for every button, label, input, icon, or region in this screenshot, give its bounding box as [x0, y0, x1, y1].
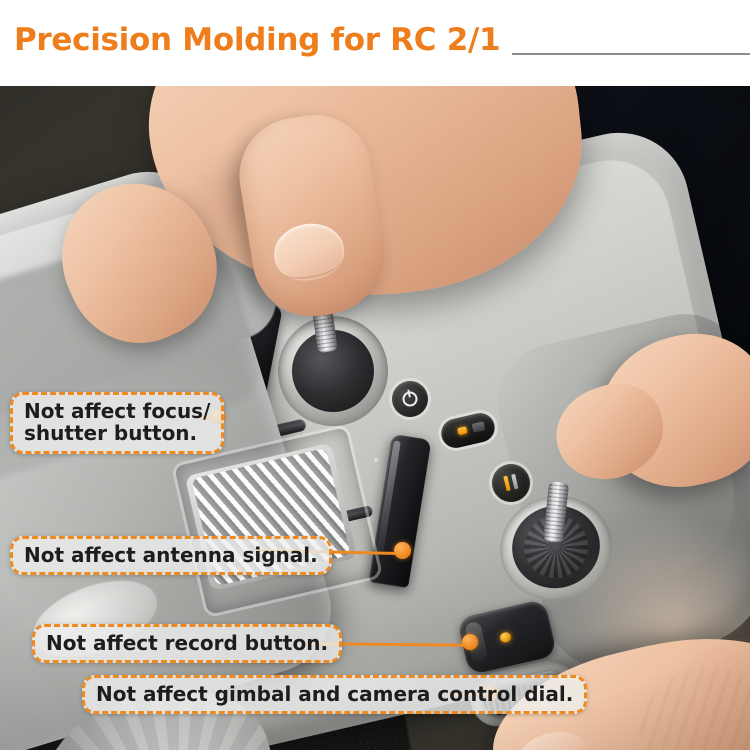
leader-dot-record	[462, 634, 478, 650]
power-icon	[401, 390, 419, 408]
header-bar: Precision Molding for RC 2/1	[0, 0, 750, 86]
pause-icon-bar-right	[511, 474, 518, 490]
mode-indicator-led	[457, 426, 467, 435]
title-underline-rule	[512, 53, 750, 55]
callout-record-button: Not affect record button.	[32, 624, 342, 663]
callout-gimbal-dial: Not affect gimbal and camera control dia…	[82, 675, 587, 714]
status-led-1	[374, 458, 380, 464]
callout-focus-shutter: Not affect focus/ shutter button.	[10, 392, 224, 454]
callout-antenna-signal: Not affect antenna signal.	[10, 536, 332, 575]
page-title: Precision Molding for RC 2/1	[14, 22, 500, 58]
product-image-page: Precision Molding for RC 2/1	[0, 0, 750, 750]
product-photo: Not affect focus/ shutter button. Not af…	[0, 86, 750, 750]
leader-dot-antenna	[394, 542, 411, 559]
record-indicator-led	[499, 631, 512, 643]
pause-icon-bar-left	[503, 476, 510, 492]
mode-switch-toggle	[472, 421, 486, 432]
